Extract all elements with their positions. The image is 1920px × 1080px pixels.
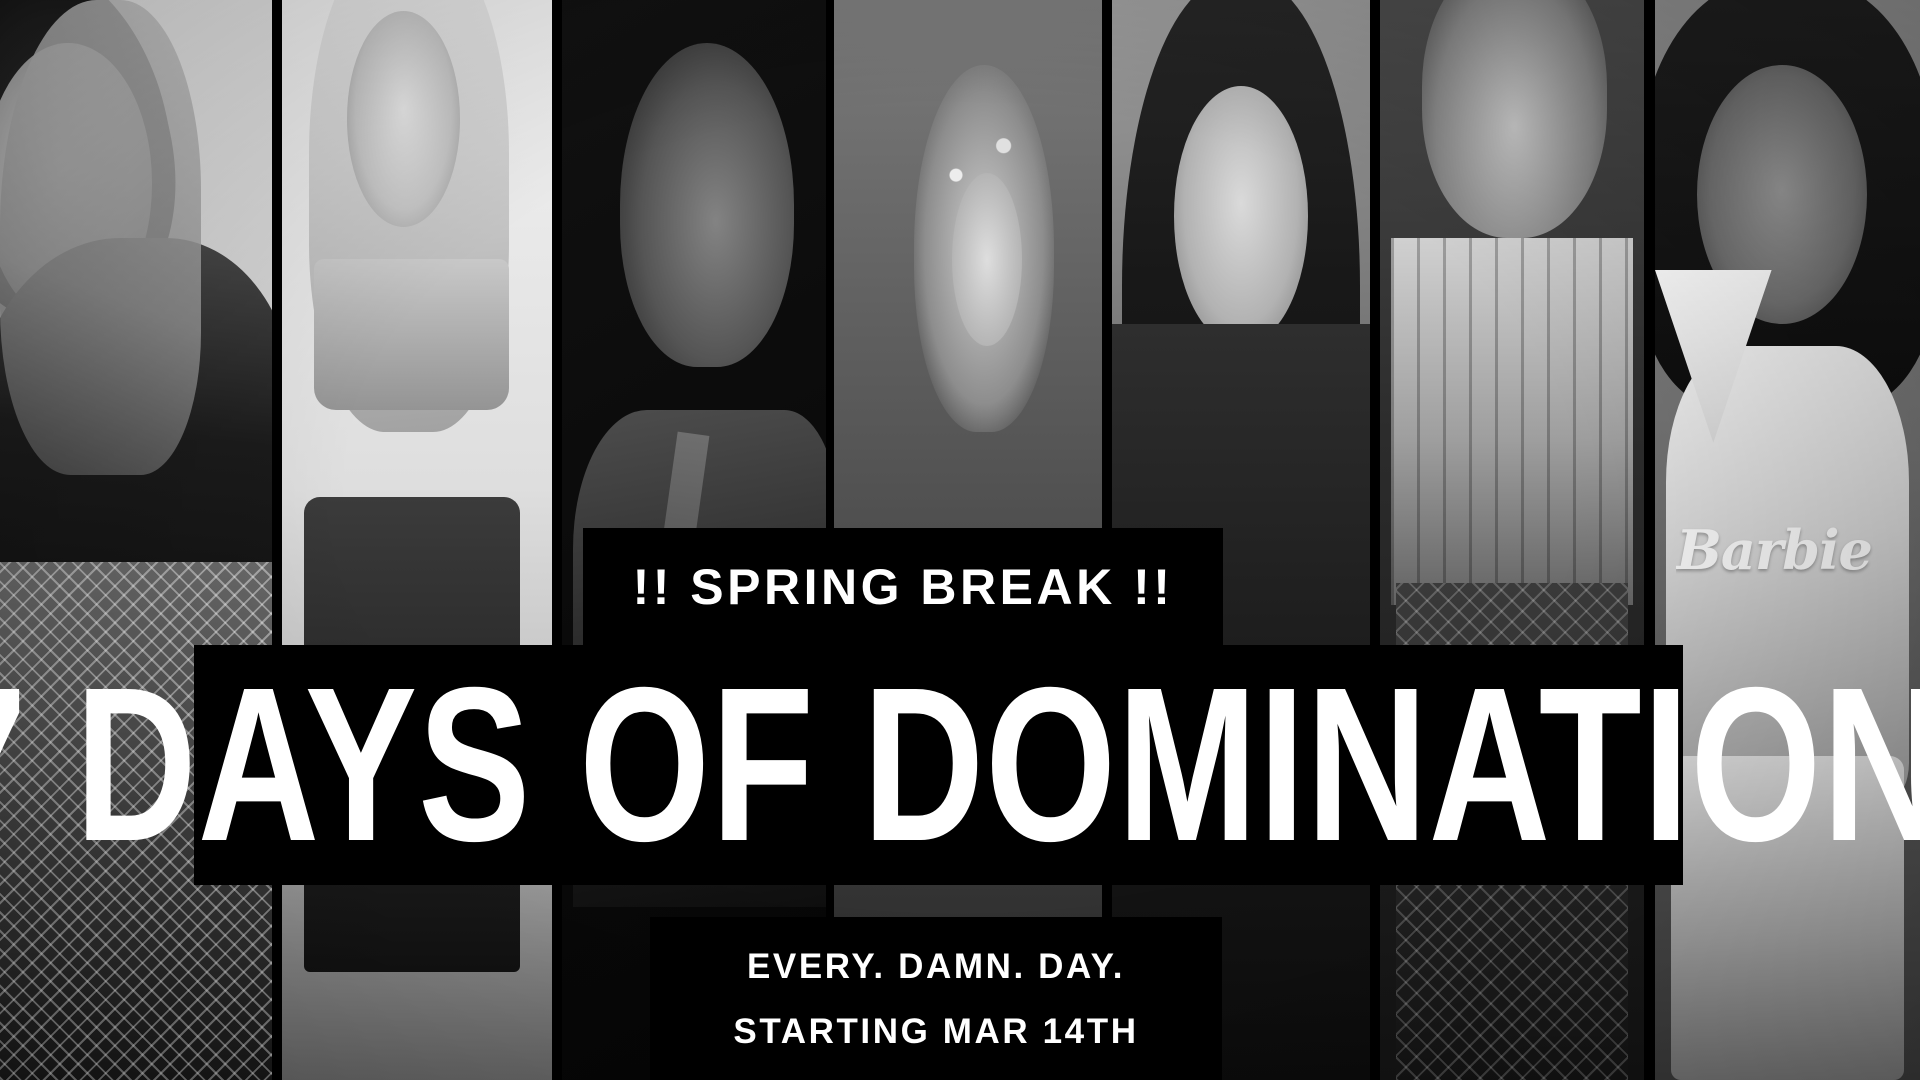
headline-banner: 7 DAYS OF DOMINATION [194, 645, 1683, 885]
headline-text: 7 DAYS OF DOMINATION [0, 664, 1920, 866]
collage-panel-2 [282, 0, 552, 1080]
collage-panel-1 [0, 0, 272, 1080]
kicker-banner: !! SPRING BREAK !! [583, 528, 1223, 646]
collage-panel-2-art [282, 0, 552, 1080]
barbie-garment-text: Barbie [1676, 518, 1899, 582]
footer-line-frequency: EVERY. DAMN. DAY. [747, 949, 1125, 984]
kicker-text: !! SPRING BREAK !! [633, 562, 1174, 612]
collage-panel-6-art [1380, 0, 1644, 1080]
collage-panel-7: Barbie [1655, 0, 1920, 1080]
footer-banner: EVERY. DAMN. DAY. STARTING MAR 14TH [650, 917, 1222, 1080]
footer-line-start-date: STARTING MAR 14TH [733, 1014, 1138, 1049]
collage-panel-6 [1380, 0, 1644, 1080]
collage-panel-7-art: Barbie [1655, 0, 1920, 1080]
promo-graphic-canvas: Barbie !! SPRING BREAK !! 7 DAYS OF DOMI… [0, 0, 1920, 1080]
collage-panel-1-art [0, 0, 272, 1080]
